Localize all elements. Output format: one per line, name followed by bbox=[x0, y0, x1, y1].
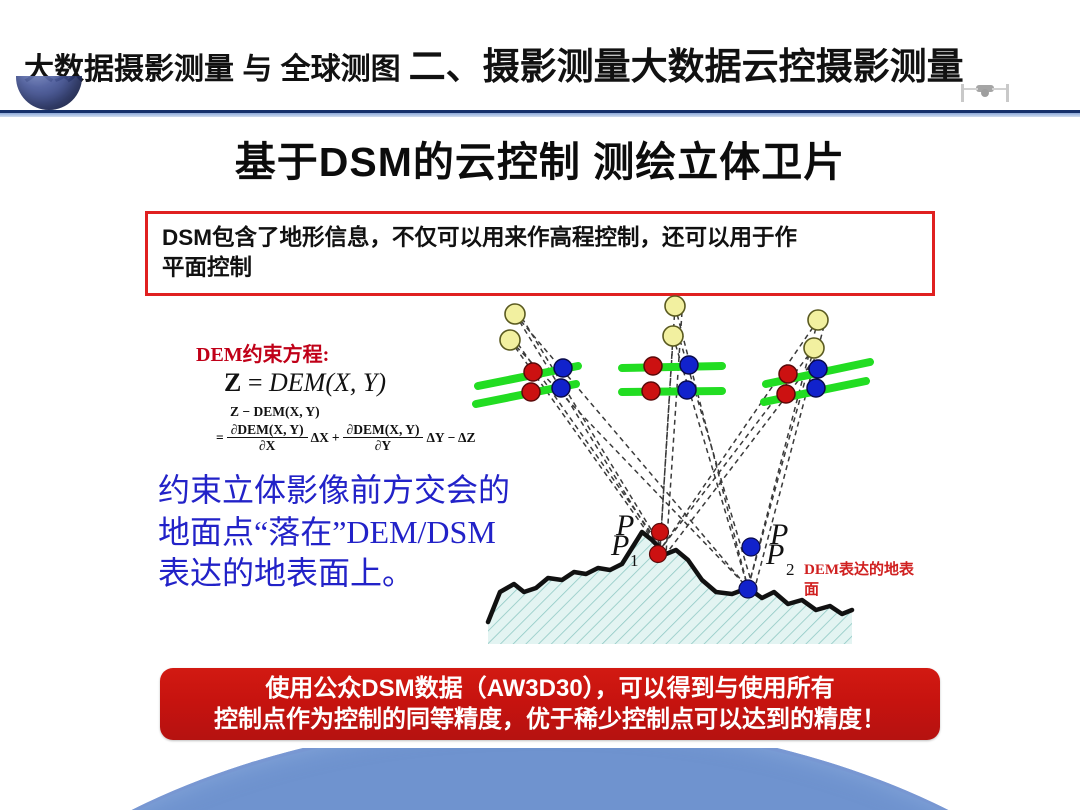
dem-equation-heading: DEM约束方程: bbox=[196, 338, 329, 367]
dem-equation-expanded: Z − DEM(X, Y) = ∂DEM(X, Y) ∂X ΔX + ∂DEM(… bbox=[216, 404, 475, 454]
point-label-p2: P P 2 bbox=[765, 518, 795, 579]
dem-eq-frac-x-factor: ΔX bbox=[311, 430, 329, 446]
dem-eq-sub-numerator: Z − DEM(X, Y) bbox=[230, 404, 475, 420]
dsm-note-box: DSM包含了地形信息，不仅可以用来作高程控制，还可以用于作 平面控制 bbox=[145, 211, 935, 296]
terrain-label-line-1: DEM表达的地表 bbox=[804, 560, 915, 578]
left-image-point bbox=[644, 357, 662, 375]
right-image-point bbox=[552, 379, 570, 397]
perspective-center bbox=[500, 330, 520, 350]
perspective-center bbox=[505, 304, 525, 324]
camera-station-3 bbox=[764, 310, 870, 403]
svg-text:1: 1 bbox=[630, 551, 639, 570]
dem-eq-frac-y-den: ∂Y bbox=[371, 438, 395, 454]
dem-equation-main: Z = DEM(X, Y) bbox=[224, 368, 386, 398]
conclusion-banner: 使用公众DSM数据（AW3D30），可以得到与使用所有 控制点作为控制的同等精度… bbox=[160, 668, 940, 740]
dem-eq-frac-y-factor: ΔY bbox=[426, 430, 444, 446]
camera-station-1 bbox=[476, 304, 578, 404]
perspective-center bbox=[665, 296, 685, 316]
ground-point-p1-prime bbox=[652, 524, 669, 541]
right-image-point bbox=[807, 379, 825, 397]
stereo-dem-constraint-diagram: P P 1 P P 2 DEM表达的地表 面 bbox=[470, 292, 950, 652]
earth-horizon-icon bbox=[0, 748, 1080, 810]
drone-icon bbox=[942, 78, 1028, 108]
dem-eq-plus: + bbox=[332, 430, 340, 446]
dem-eq-rhs: DEM(X, Y) bbox=[269, 368, 386, 397]
header-right-title: 二、摄影测量大数据云控摄影测量 bbox=[409, 36, 964, 90]
svg-text:P: P bbox=[765, 538, 784, 571]
perspective-center bbox=[663, 326, 683, 346]
perspective-center bbox=[804, 338, 824, 358]
conclusion-banner-line-2: 控制点作为控制的同等精度，优于稀少控制点可以达到的精度！ bbox=[214, 704, 886, 735]
ground-point-p2-prime bbox=[742, 538, 760, 556]
dem-eq-frac-y-num: ∂DEM(X, Y) bbox=[343, 422, 424, 439]
dem-eq-frac-x-den: ∂X bbox=[255, 438, 279, 454]
svg-text:P: P bbox=[610, 529, 629, 562]
left-image-point bbox=[524, 363, 542, 381]
constraint-explanation-text: 约束立体影像前方交会的地面点“落在”DEM/DSM表达的地表面上。 bbox=[158, 470, 518, 595]
dem-eq-sub-equals: = bbox=[216, 430, 224, 446]
header-rule-soft bbox=[0, 113, 1080, 117]
dsm-note-line-2: 平面控制 bbox=[162, 253, 918, 283]
conclusion-banner-line-1: 使用公众DSM数据（AW3D30），可以得到与使用所有 bbox=[265, 673, 834, 704]
right-image-point bbox=[680, 356, 698, 374]
terrain-label-line-2: 面 bbox=[804, 581, 819, 598]
globe-icon bbox=[16, 76, 82, 110]
perspective-center bbox=[808, 310, 828, 330]
left-image-point bbox=[642, 382, 660, 400]
ground-point-p1 bbox=[650, 546, 667, 563]
slide: 大数据摄影测量 与 全球测图 二、摄影测量大数据云控摄影测量 基于DSM的云控制… bbox=[0, 0, 1080, 810]
dem-eq-sub-body: = ∂DEM(X, Y) ∂X ΔX + ∂DEM(X, Y) ∂Y ΔY − … bbox=[216, 422, 475, 454]
left-image-point bbox=[777, 385, 795, 403]
right-image-point bbox=[554, 359, 572, 377]
left-image-point bbox=[779, 365, 797, 383]
right-image-point bbox=[678, 381, 696, 399]
dem-eq-equals: = bbox=[248, 368, 263, 397]
slide-header: 大数据摄影测量 与 全球测图 二、摄影测量大数据云控摄影测量 bbox=[0, 0, 1080, 118]
dem-eq-lhs: Z bbox=[224, 368, 241, 397]
dem-eq-frac-x-num: ∂DEM(X, Y) bbox=[227, 422, 308, 439]
dem-eq-frac-y: ∂DEM(X, Y) ∂Y bbox=[343, 422, 424, 454]
page-title: 基于DSM的云控制 测绘立体卫片 bbox=[0, 128, 1080, 188]
svg-text:2: 2 bbox=[786, 560, 795, 579]
right-image-point bbox=[809, 360, 827, 378]
left-image-point bbox=[522, 383, 540, 401]
header-title-row: 大数据摄影测量 与 全球测图 二、摄影测量大数据云控摄影测量 bbox=[24, 36, 1064, 88]
dem-eq-frac-x: ∂DEM(X, Y) ∂X bbox=[227, 422, 308, 454]
dsm-note-line-1: DSM包含了地形信息，不仅可以用来作高程控制，还可以用于作 bbox=[162, 223, 918, 253]
ground-point-p2 bbox=[739, 580, 757, 598]
point-label-p1: P P 1 bbox=[610, 509, 639, 570]
